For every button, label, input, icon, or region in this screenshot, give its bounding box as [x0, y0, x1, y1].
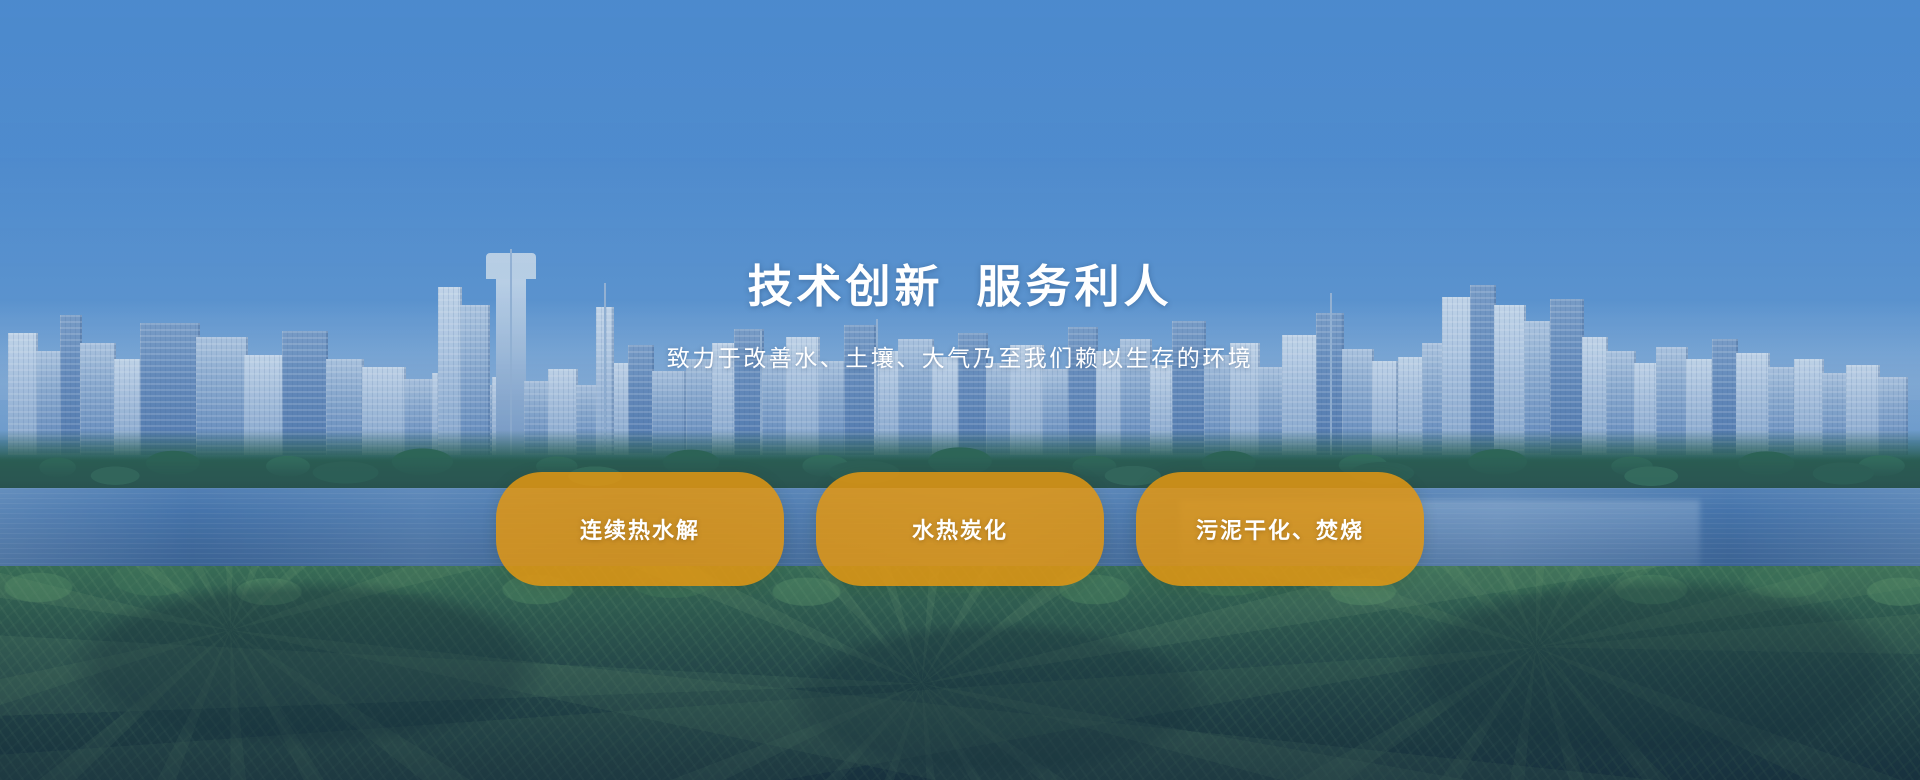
foreground-mangrove-layer: [0, 566, 1920, 780]
service-pill-row: 连续热水解 水热炭化 污泥干化、焚烧: [0, 472, 1920, 586]
hero-banner: 技术创新 服务利人 致力于改善水、土壤、大气乃至我们赖以生存的环境 连续热水解 …: [0, 0, 1920, 780]
service-pill-label: 连续热水解: [580, 513, 700, 545]
service-pill-label: 污泥干化、焚烧: [1196, 513, 1364, 545]
service-pill-continuous-thermal-hydrolysis[interactable]: 连续热水解: [496, 472, 784, 586]
city-skyline-layer: [0, 250, 1920, 455]
service-pill-label: 水热炭化: [912, 513, 1008, 545]
service-pill-sludge-drying-incineration[interactable]: 污泥干化、焚烧: [1136, 472, 1424, 586]
service-pill-hydrothermal-carbonization[interactable]: 水热炭化: [816, 472, 1104, 586]
